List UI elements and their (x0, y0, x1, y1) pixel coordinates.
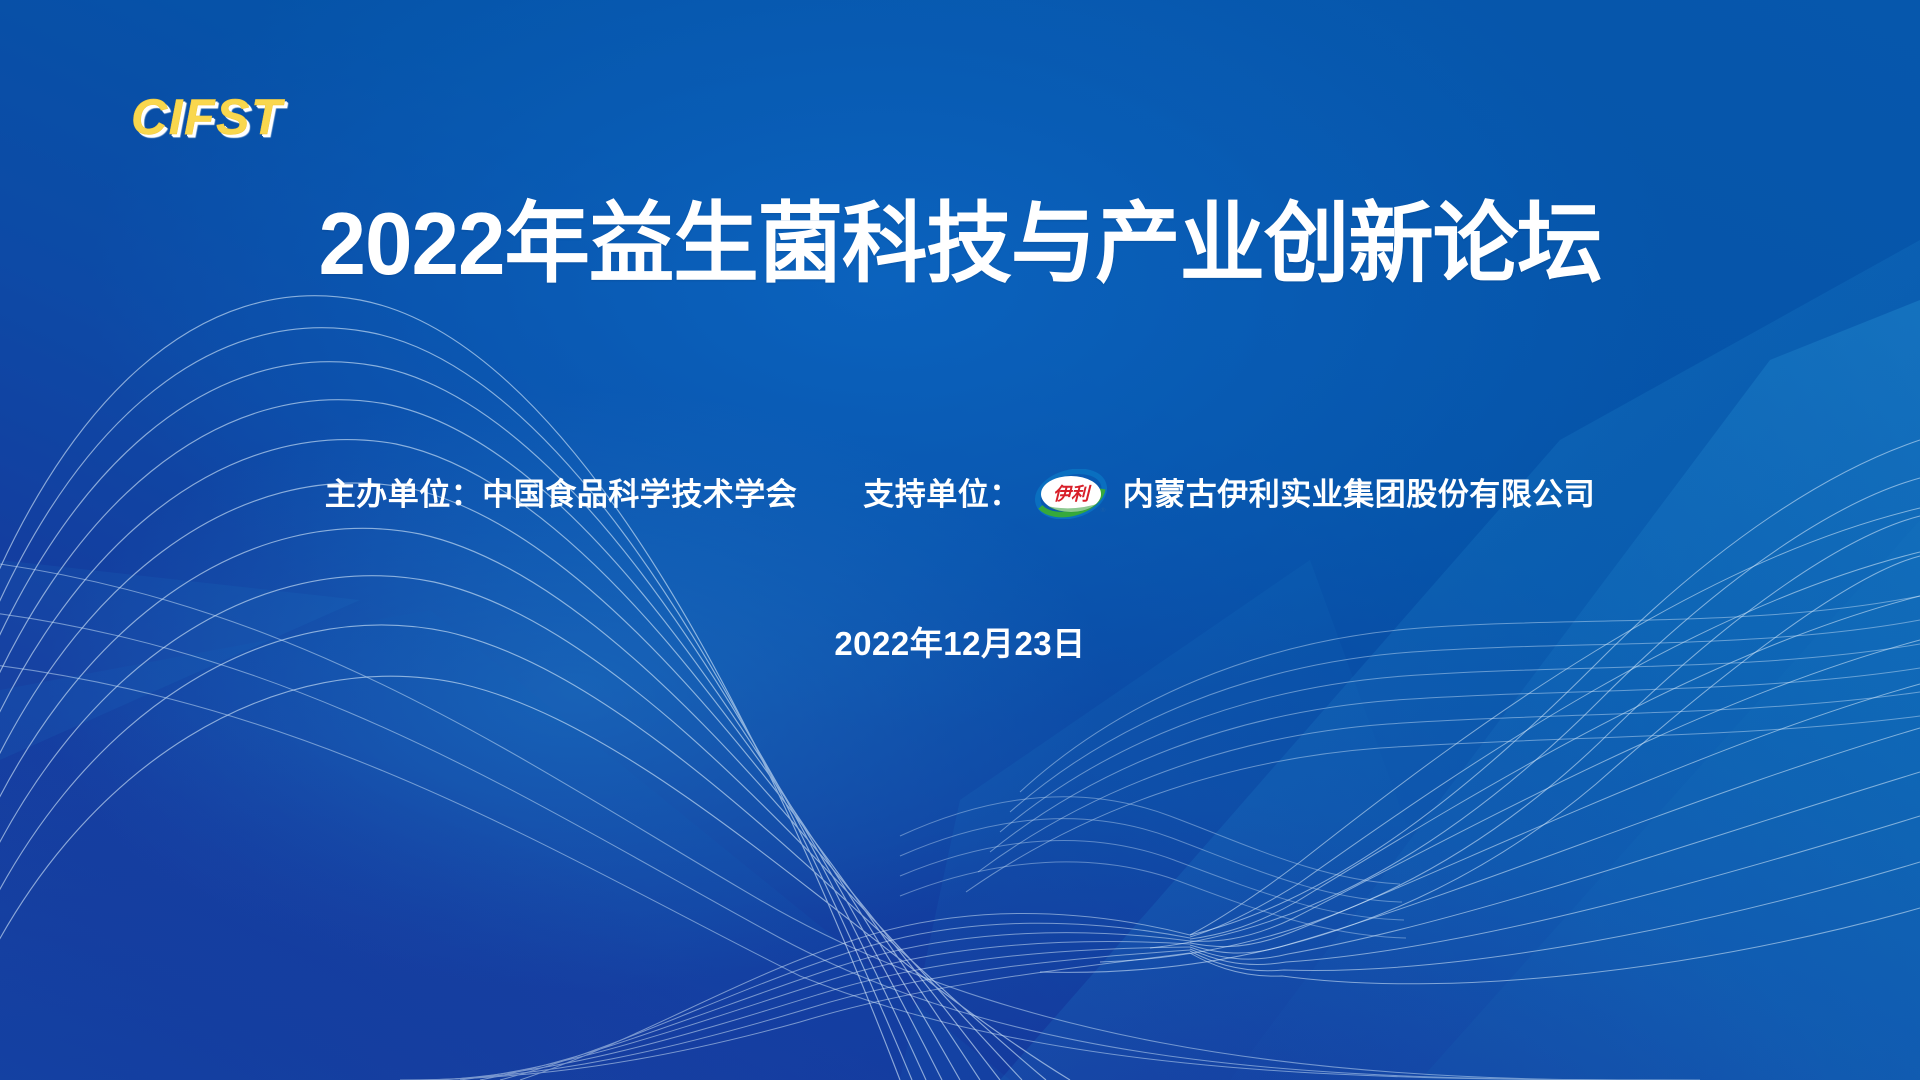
support-organization-label: 支持单位： (863, 479, 1021, 510)
page-title: 2022年益生菌科技与产业创新论坛 (29, 199, 1891, 289)
event-banner: CIFST 2022年益生菌科技与产业创新论坛 主办单位：中国食品科学技术学会 … (0, 0, 1920, 1080)
host-organization: 主办单位：中国食品科学技术学会 (325, 479, 798, 510)
organizer-row: 主办单位：中国食品科学技术学会 支持单位： (0, 469, 1920, 519)
yili-logo-text: 伊利 (1053, 484, 1092, 505)
support-organization-name: 内蒙古伊利实业集团股份有限公司 (1123, 479, 1596, 510)
event-date: 2022年12月23日 (0, 617, 1920, 665)
background-wave-lines (0, 0, 1920, 1080)
registered-trademark-mark: ® (1100, 506, 1107, 514)
yili-logo-icon: 伊利 ® (1033, 469, 1109, 519)
cifst-logo: CIFST (131, 92, 283, 142)
